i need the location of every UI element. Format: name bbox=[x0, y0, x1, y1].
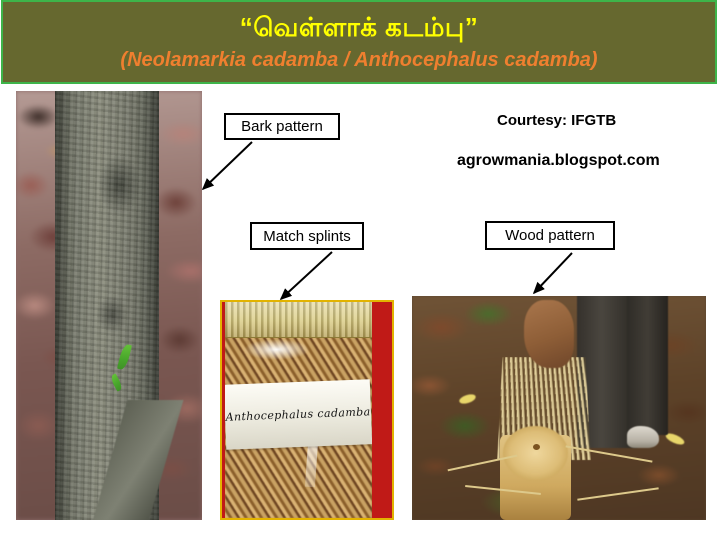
photo-bark-pattern bbox=[16, 91, 202, 520]
title-tamil: “வெள்ளாக் கடம்பு” bbox=[240, 13, 479, 42]
callout-bark-pattern-label: Bark pattern bbox=[241, 118, 323, 135]
cut-log-face bbox=[503, 426, 568, 480]
leader-line-wood bbox=[534, 253, 572, 293]
callout-bark-pattern[interactable]: Bark pattern bbox=[224, 113, 340, 140]
leader-line-bark bbox=[203, 142, 252, 189]
person-trouser-right bbox=[627, 296, 668, 435]
jar-label: Anthocephalus cadamba bbox=[225, 379, 371, 449]
title-scientific-name: (Neolamarkia cadamba / Anthocephalus cad… bbox=[120, 49, 597, 71]
log-knot bbox=[533, 444, 540, 450]
photo-match-splints: Anthocephalus cadamba bbox=[220, 300, 394, 520]
courtesy-credit: Courtesy: IFGTB bbox=[497, 112, 616, 129]
callout-wood-pattern-label: Wood pattern bbox=[505, 227, 595, 244]
callout-wood-pattern[interactable]: Wood pattern bbox=[485, 221, 615, 250]
person-shoe bbox=[627, 426, 659, 448]
jar-label-text: Anthocephalus cadamba bbox=[226, 405, 371, 424]
jar-glare bbox=[243, 339, 310, 361]
jar-body: Anthocephalus cadamba bbox=[225, 302, 371, 518]
leader-line-match bbox=[281, 252, 332, 299]
photo-wood-pattern bbox=[412, 296, 706, 520]
callout-match-splints[interactable]: Match splints bbox=[250, 222, 364, 250]
person-hand bbox=[524, 300, 574, 367]
jar-cap bbox=[225, 302, 371, 338]
blog-credit: agrowmania.blogspot.com bbox=[457, 152, 660, 170]
title-banner: “வெள்ளாக் கடம்பு” (Neolamarkia cadamba /… bbox=[1, 0, 717, 84]
callout-match-splints-label: Match splints bbox=[263, 228, 351, 245]
